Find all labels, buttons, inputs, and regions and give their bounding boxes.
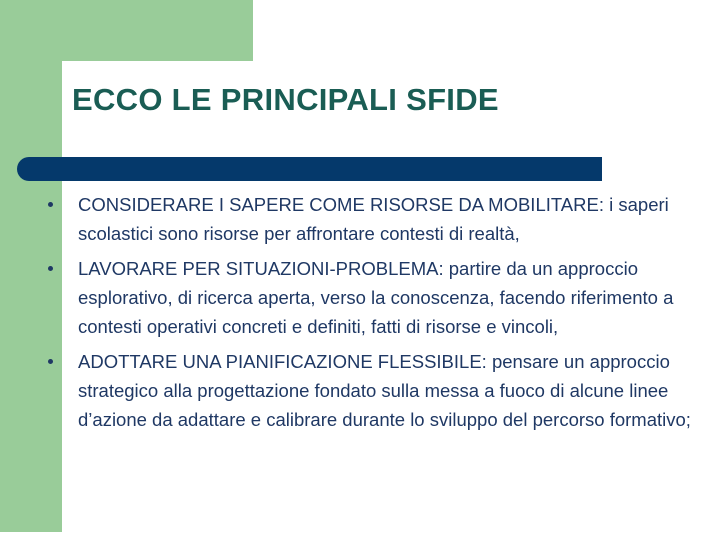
bullet-text: ADOTTARE UNA PIANIFICAZIONE FLESSIBILE: … [78, 347, 720, 434]
bullet-text: CONSIDERARE I SAPERE COME RISORSE DA MOB… [78, 190, 720, 248]
list-item: LAVORARE PER SITUAZIONI-PROBLEMA: partir… [36, 254, 720, 341]
bullet-dot-icon [48, 359, 53, 364]
list-item: ADOTTARE UNA PIANIFICAZIONE FLESSIBILE: … [36, 347, 720, 434]
slide-body: CONSIDERARE I SAPERE COME RISORSE DA MOB… [36, 190, 720, 440]
slide-canvas: ECCO LE PRINCIPALI SFIDE CONSIDERARE I S… [0, 0, 720, 540]
blue-divider-bar [17, 157, 602, 181]
bullet-dot-icon [48, 266, 53, 271]
bullet-list: CONSIDERARE I SAPERE COME RISORSE DA MOB… [36, 190, 720, 434]
list-item: CONSIDERARE I SAPERE COME RISORSE DA MOB… [36, 190, 720, 248]
slide-title: ECCO LE PRINCIPALI SFIDE [72, 82, 692, 118]
green-header-block [0, 0, 253, 61]
bullet-text: LAVORARE PER SITUAZIONI-PROBLEMA: partir… [78, 254, 720, 341]
bullet-dot-icon [48, 202, 53, 207]
